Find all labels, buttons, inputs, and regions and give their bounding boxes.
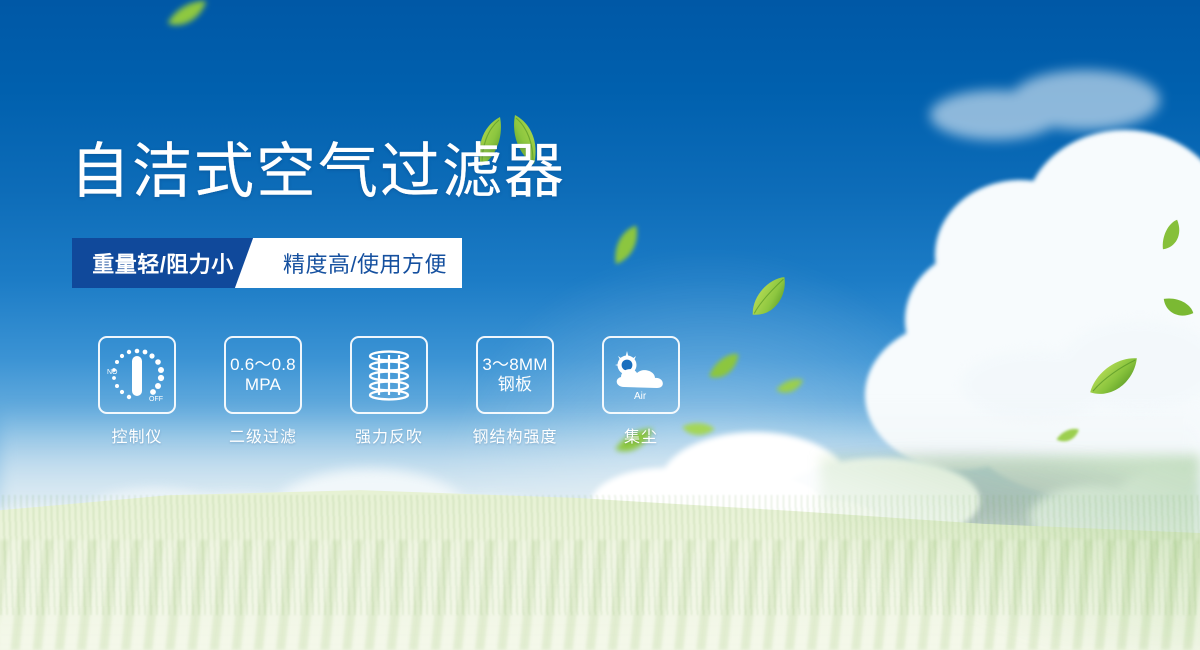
steel-plate-icon: 3～8MM 钢板 [476,336,554,414]
steel-material: 钢板 [482,375,547,395]
page-title: 自洁式空气过滤器 [70,142,566,202]
steel-thickness: 3～8MM [482,355,547,375]
filter-stack-icon [350,336,428,414]
feature-label-controller: 控制仪 [111,423,162,447]
pressure-value: 0.6～0.8 [230,355,296,375]
feature-label-dust-collection: 集尘 [624,423,658,447]
subtitle-bar: 重量轻/阻力小 精度高/使用方便 [72,238,462,288]
feature-label-steel-structure: 钢结构强度 [472,423,557,447]
feature-label-two-stage-filter: 二级过滤 [229,423,297,447]
cloud-wisp-upper-right [930,60,1160,150]
subtitle-left-text: 重量轻/阻力小 [92,247,234,279]
feature-list: NO OFF 控制仪 0.6～0.8 MPA 二级过滤 [74,336,704,447]
subtitle-right-text: 精度高/使用方便 [269,247,447,279]
feature-item-controller[interactable]: NO OFF 控制仪 [74,336,200,447]
steel-plate-icon-text: 3～8MM 钢板 [482,355,547,395]
pressure-icon-text: 0.6～0.8 MPA [230,355,296,395]
pressure-unit: MPA [230,375,296,395]
subtitle-left-segment: 重量轻/阻力小 [72,238,254,288]
cloud-air-icon: Air [602,336,680,414]
pressure-icon: 0.6～0.8 MPA [224,336,302,414]
cloud-air-text: Air [634,391,647,402]
feature-item-two-stage-filter[interactable]: 0.6～0.8 MPA 二级过滤 [200,336,326,447]
gauge-label-off: OFF [149,396,163,403]
gauge-icon: NO OFF [98,336,176,414]
feature-item-dust-collection[interactable]: Air 集尘 [578,336,704,447]
grass-mow-stripes [0,540,1200,650]
feature-item-blowback[interactable]: 强力反吹 [326,336,452,447]
feature-item-steel-structure[interactable]: 3～8MM 钢板 钢结构强度 [452,336,578,447]
feature-label-blowback: 强力反吹 [355,423,423,447]
promo-banner: 自洁式空气过滤器 重量轻/阻力小 精度高/使用方便 [0,0,1200,650]
subtitle-right-segment: 精度高/使用方便 [254,238,462,288]
gauge-label-no: NO [107,369,118,376]
